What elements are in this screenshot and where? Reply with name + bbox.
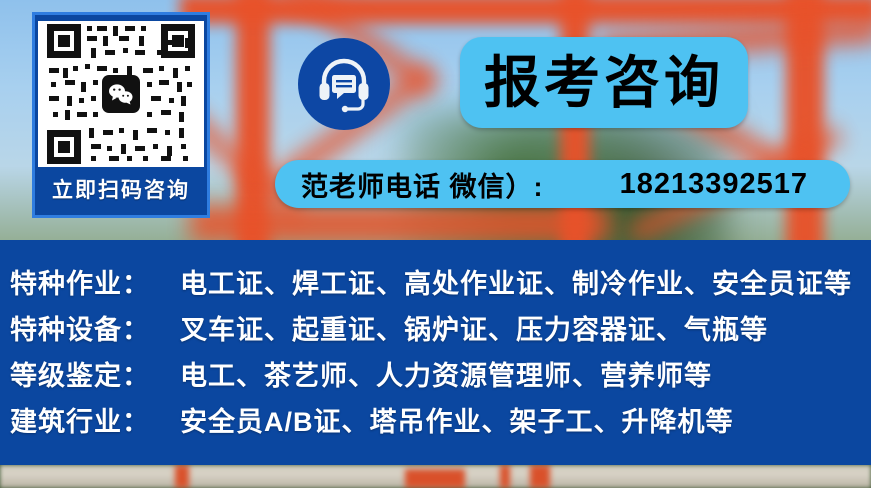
qr-code-modules [47, 24, 195, 164]
certificate-categories-panel: 特种作业： 电工证、焊工证、高处作业证、制冷作业、安全员证等 特种设备： 叉车证… [0, 240, 871, 465]
contact-phone-number[interactable]: 18213392517 [620, 168, 824, 201]
strip-post-6 [530, 465, 550, 488]
category-label: 特种设备： [10, 308, 180, 347]
crane-beam-lower [190, 205, 610, 243]
title-text: 报考咨询 [484, 55, 724, 111]
title-pill: 报考咨询 [460, 37, 748, 128]
category-value: 叉车证、起重证、锅炉证、压力容器证、气瓶等 [180, 308, 768, 347]
qr-finder-bottom-left [47, 130, 81, 164]
contact-label: 范老师电话 微信）: [301, 165, 544, 204]
qr-caption: 立即扫码咨询 [52, 167, 190, 215]
crane-beam-horizontal-top [180, 0, 871, 24]
wechat-icon [102, 75, 140, 113]
category-value: 电工证、焊工证、高处作业证、制冷作业、安全员证等 [180, 262, 852, 301]
category-row: 特种设备： 叉车证、起重证、锅炉证、压力容器证、气瓶等 [0, 308, 871, 354]
category-label: 等级鉴定： [10, 354, 180, 393]
category-row: 特种作业： 电工证、焊工证、高处作业证、制冷作业、安全员证等 [0, 262, 871, 308]
category-value: 安全员A/B证、塔吊作业、架子工、升降机等 [180, 400, 734, 439]
strip-post-1 [175, 465, 189, 488]
headset-support-icon [315, 55, 373, 113]
qr-finder-top-left [47, 24, 81, 58]
category-row: 建筑行业： 安全员A/B证、塔吊作业、架子工、升降机等 [0, 400, 871, 446]
contact-phone-pill[interactable]: 范老师电话 微信）: 18213392517 [275, 160, 850, 208]
category-row: 等级鉴定： 电工、茶艺师、人力资源管理师、营养师等 [0, 354, 871, 400]
strip-post-5 [500, 465, 510, 488]
headset-support-badge[interactable] [298, 38, 390, 130]
category-label: 特种作业： [10, 262, 180, 301]
promotional-poster: 立即扫码咨询 报考咨询 范老师电话 微信）: 18213392517 特种作业：… [0, 0, 871, 488]
strip-post-2 [405, 469, 465, 488]
category-value: 电工、茶艺师、人力资源管理师、营养师等 [180, 354, 712, 393]
bottom-photo-strip [0, 465, 871, 488]
category-label: 建筑行业： [10, 400, 180, 439]
qr-code-card[interactable]: 立即扫码咨询 [32, 12, 210, 218]
qr-code-image[interactable] [38, 21, 204, 167]
